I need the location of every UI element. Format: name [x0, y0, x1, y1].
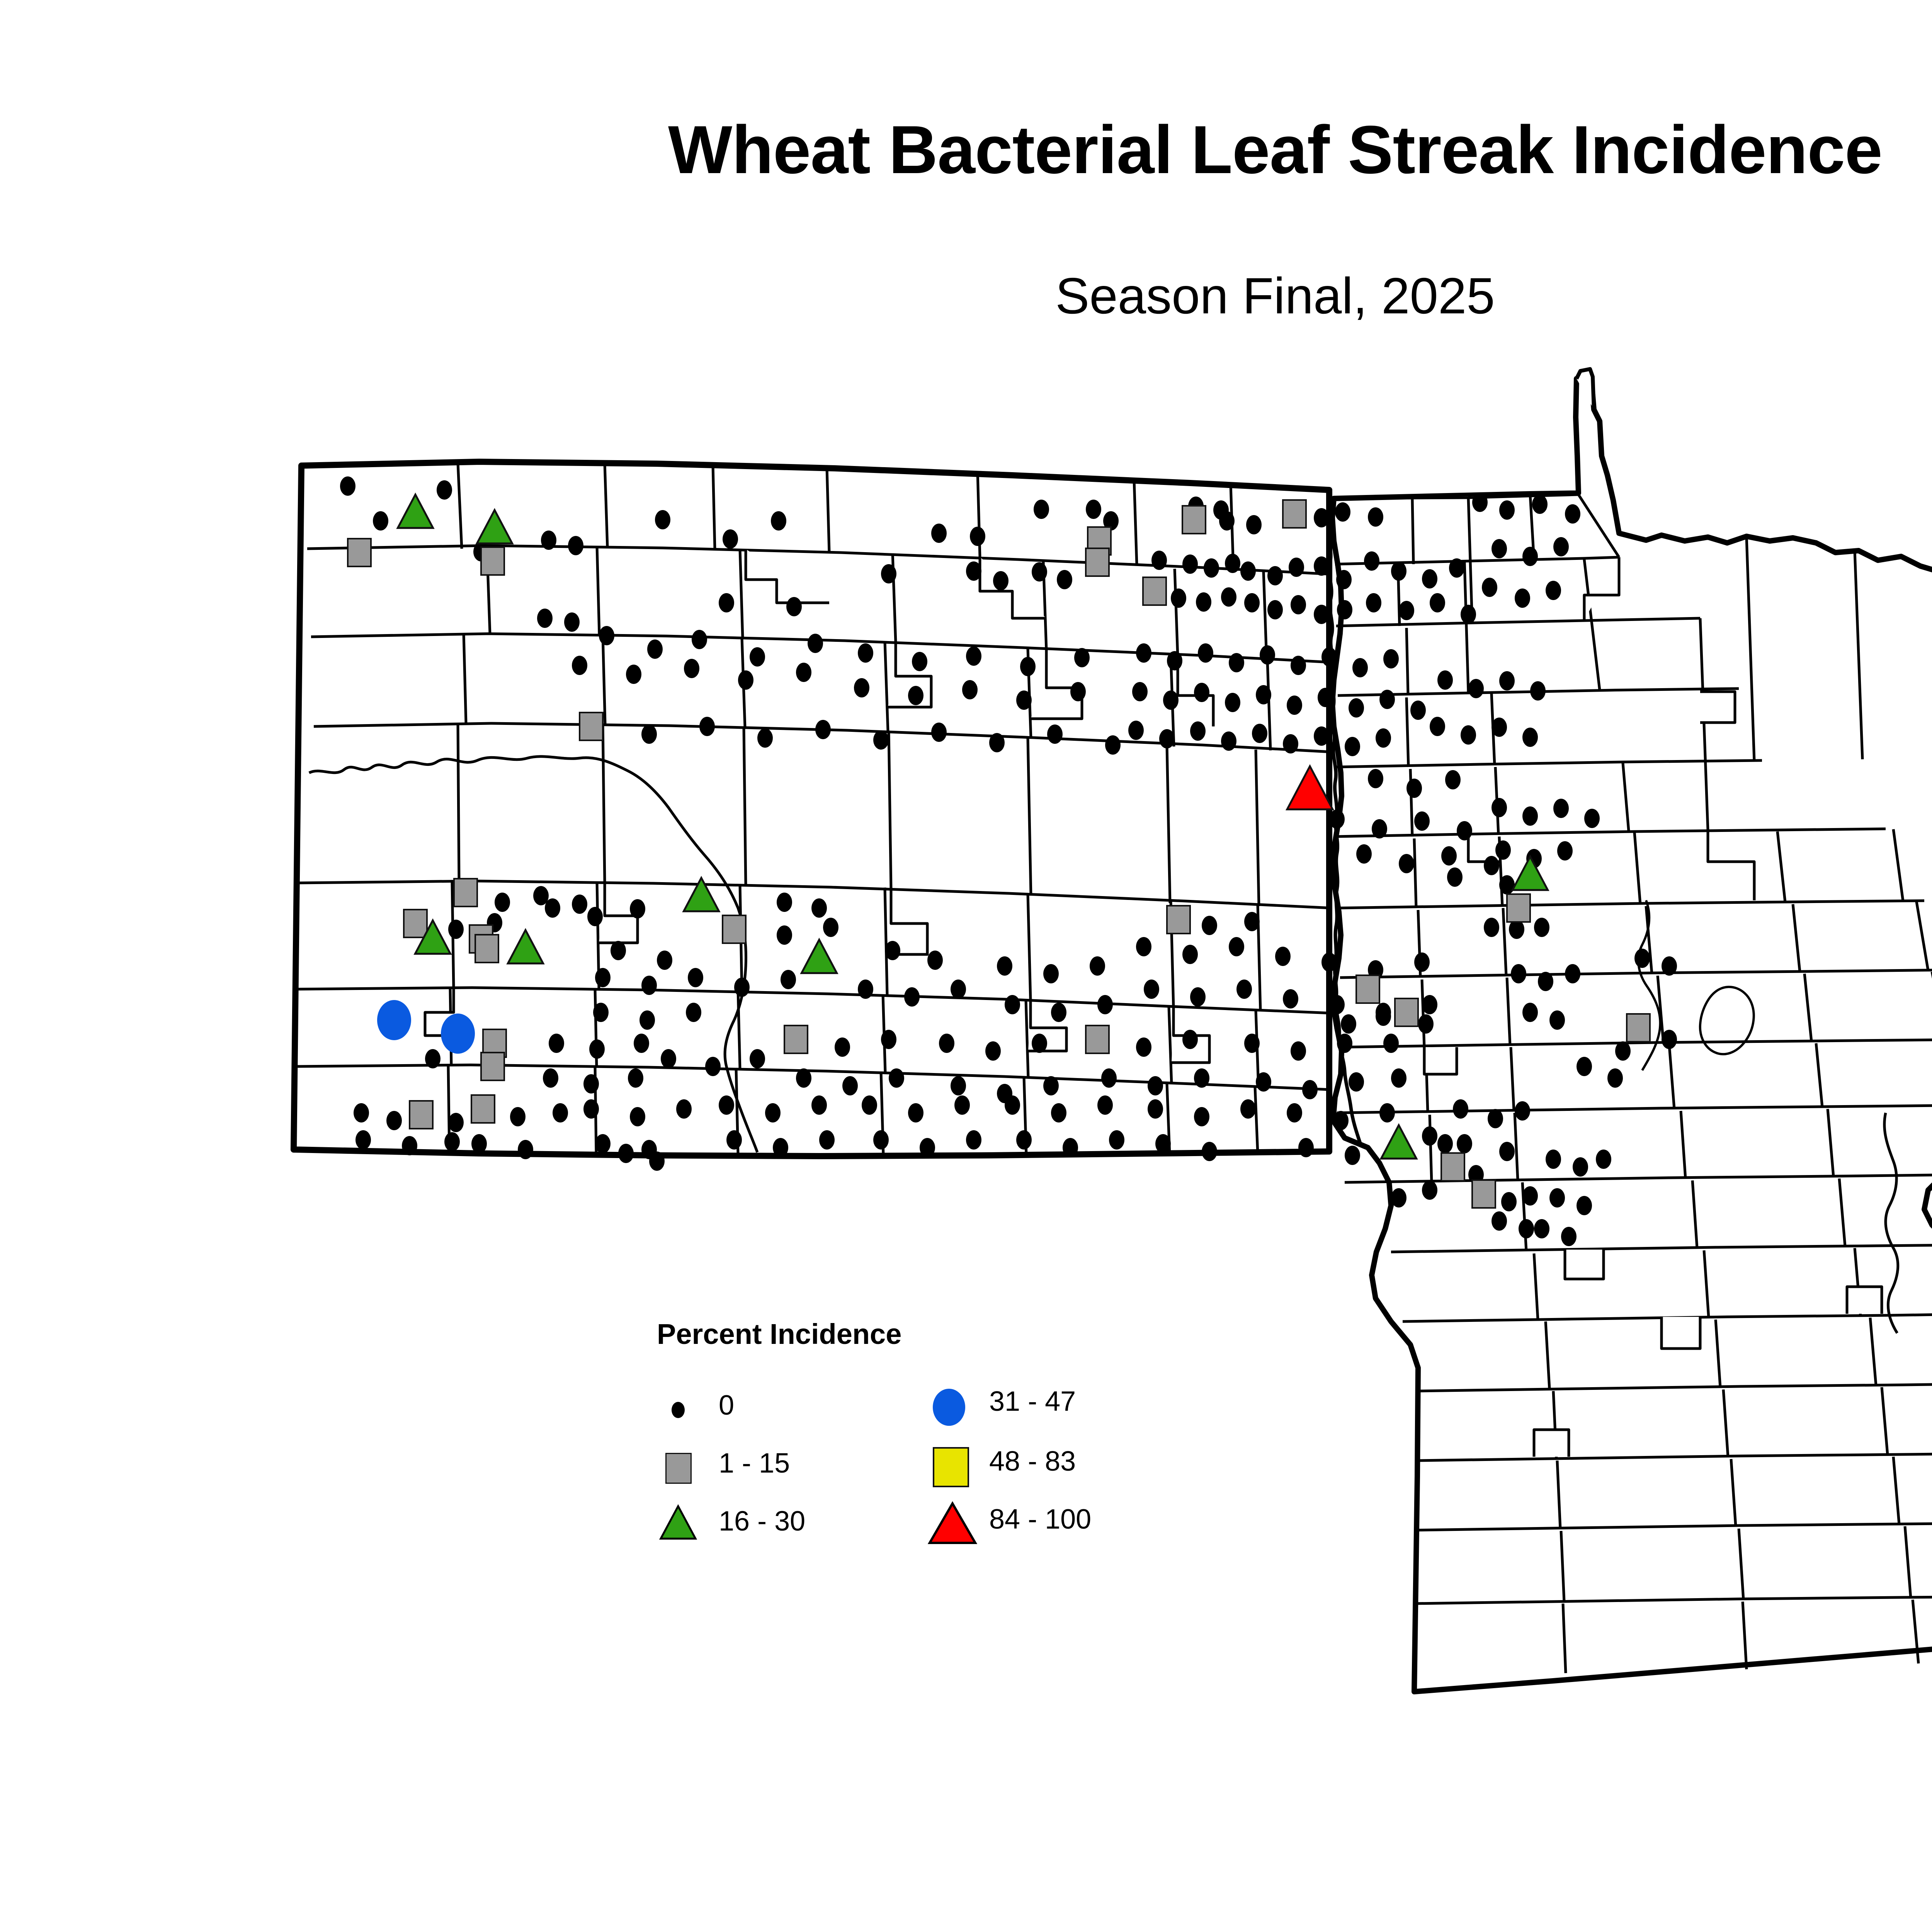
survey-point [951, 980, 966, 999]
survey-point [1468, 679, 1484, 698]
survey-point [858, 643, 873, 663]
survey-point [425, 1049, 440, 1068]
survey-point [1565, 964, 1580, 983]
survey-point [1457, 1134, 1472, 1153]
survey-point [661, 1049, 676, 1068]
survey-point [589, 1039, 605, 1059]
survey-point [1182, 945, 1198, 964]
survey-point [1086, 500, 1101, 519]
survey-point [1395, 998, 1418, 1026]
survey-point [1461, 605, 1476, 624]
legend-label: 1 - 15 [719, 1447, 790, 1479]
county-line [1412, 498, 1413, 564]
survey-point [1289, 558, 1304, 577]
survey-point [786, 597, 802, 616]
survey-point [1337, 1034, 1352, 1053]
survey-point [811, 898, 827, 918]
survey-point [1356, 844, 1372, 864]
survey-point [1522, 1003, 1538, 1022]
survey-point [1522, 1186, 1538, 1206]
survey-point [1366, 593, 1381, 612]
survey-point [1051, 1103, 1066, 1122]
survey-point [1492, 718, 1507, 737]
survey-point [1511, 964, 1526, 983]
survey-point [1144, 980, 1159, 999]
survey-point [1097, 995, 1113, 1014]
survey-point [1414, 811, 1430, 831]
survey-point [1136, 937, 1151, 956]
survey-point [1256, 685, 1271, 704]
survey-point [1472, 1180, 1495, 1208]
survey-point [1182, 1030, 1198, 1049]
survey-point [1372, 819, 1387, 838]
survey-point [1236, 980, 1252, 999]
survey-point [593, 1003, 609, 1022]
map-canvas: Wheat Bacterial Leaf Streak Incidence Se… [0, 0, 1932, 1932]
survey-point [1662, 956, 1677, 976]
survey-point [1190, 721, 1206, 741]
survey-point [970, 527, 985, 546]
survey-point [1267, 600, 1283, 619]
survey-point [1005, 1095, 1020, 1115]
survey-point [1507, 894, 1530, 922]
survey-point [1557, 841, 1573, 861]
survey-point [1492, 798, 1507, 817]
survey-point [889, 1068, 904, 1088]
survey-point [595, 1134, 611, 1153]
survey-point [1090, 956, 1105, 976]
legend-symbol-square-icon [657, 1445, 703, 1488]
survey-point [1283, 734, 1298, 753]
survey-point [1005, 995, 1020, 1014]
survey-point [1383, 649, 1399, 668]
survey-point [1356, 975, 1379, 1003]
survey-point [1445, 770, 1461, 789]
survey-point [641, 724, 657, 744]
survey-point [1194, 1107, 1209, 1126]
survey-point [1406, 779, 1422, 798]
survey-point [777, 925, 792, 945]
survey-point [1143, 577, 1166, 605]
survey-point [481, 547, 504, 575]
survey-point [796, 1068, 811, 1088]
survey-point [1399, 601, 1414, 620]
survey-point [572, 656, 587, 675]
survey-point [1318, 688, 1333, 707]
survey-point [773, 1138, 788, 1157]
survey-point [518, 1140, 533, 1159]
county-line [1662, 1317, 1700, 1349]
survey-point [835, 1037, 850, 1057]
legend-symbol-dot-icon [657, 1387, 703, 1430]
survey-point [723, 915, 746, 943]
triangle-glyph [927, 1501, 978, 1546]
survey-point [1422, 1180, 1437, 1200]
survey-point [1499, 500, 1515, 520]
survey-point [626, 665, 641, 684]
survey-point [1321, 952, 1337, 972]
survey-point [1499, 671, 1515, 690]
survey-point [1522, 547, 1538, 566]
survey-point [796, 663, 811, 682]
survey-point [1391, 1188, 1406, 1207]
survey-point [1607, 1068, 1623, 1088]
survey-point [580, 713, 603, 740]
survey-point [1246, 515, 1262, 534]
survey-point [1204, 558, 1219, 578]
survey-point [1577, 1196, 1592, 1215]
survey-point [564, 612, 580, 632]
survey-point [1219, 511, 1235, 531]
survey-point [823, 918, 838, 937]
map-svg [0, 0, 1932, 1932]
survey-point [1252, 724, 1267, 743]
survey-point [647, 639, 663, 659]
survey-point [1194, 1068, 1209, 1088]
county-line [1406, 628, 1408, 695]
survey-point [553, 1103, 568, 1122]
survey-point [630, 899, 645, 918]
county-line [1406, 697, 1408, 767]
survey-point [738, 670, 753, 690]
county-line [1847, 1287, 1882, 1314]
survey-point [1298, 1138, 1314, 1157]
survey-point [931, 723, 947, 742]
survey-point [1314, 605, 1329, 624]
survey-point [1086, 548, 1109, 576]
survey-point [410, 1101, 433, 1129]
county-line [1430, 1115, 1432, 1182]
county-line [603, 724, 605, 883]
survey-point [1376, 1007, 1391, 1026]
survey-point [1136, 643, 1151, 663]
survey-point [684, 659, 699, 678]
survey-point [1151, 551, 1167, 570]
survey-point [1256, 1072, 1271, 1092]
survey-point [1032, 562, 1047, 582]
survey-point [639, 1010, 655, 1030]
survey-point [1453, 1099, 1468, 1119]
survey-point [1260, 645, 1275, 665]
survey-point [1418, 1014, 1434, 1034]
survey-point [1399, 854, 1414, 873]
county-line [1700, 692, 1735, 723]
survey-point [954, 1095, 970, 1115]
survey-point [340, 476, 355, 496]
survey-point [939, 1034, 954, 1053]
survey-point [1538, 972, 1553, 991]
survey-point [1422, 995, 1437, 1014]
survey-point [1546, 581, 1561, 600]
survey-point [1182, 554, 1198, 574]
survey-point [1410, 701, 1426, 720]
survey-point [572, 895, 587, 914]
survey-point [634, 1034, 649, 1053]
survey-point [688, 968, 703, 987]
survey-point [1321, 647, 1337, 667]
survey-point [726, 1130, 742, 1150]
county-line [1565, 1250, 1604, 1279]
survey-point [1549, 1010, 1565, 1030]
survey-point [1530, 681, 1546, 701]
survey-point [1430, 593, 1445, 612]
legend-symbol-triangle-icon [657, 1503, 703, 1546]
survey-point [1437, 670, 1453, 690]
survey-point [1484, 856, 1499, 875]
survey-point [657, 951, 672, 970]
survey-point [1437, 1134, 1453, 1153]
survey-point [1488, 1109, 1503, 1128]
survey-point [1148, 1099, 1163, 1119]
survey-point [719, 1095, 734, 1115]
survey-point [583, 1074, 599, 1094]
survey-point [1349, 1072, 1364, 1092]
survey-point [1074, 648, 1090, 667]
survey-point [676, 1099, 692, 1119]
survey-point [1287, 1103, 1302, 1122]
survey-point [931, 524, 947, 543]
survey-point [1492, 1211, 1507, 1231]
survey-point [985, 1041, 1001, 1061]
survey-point [1414, 952, 1430, 972]
survey-point [549, 1034, 564, 1053]
survey-point [510, 1107, 526, 1126]
survey-point [686, 1003, 701, 1022]
survey-point [757, 728, 773, 748]
survey-point [649, 1151, 665, 1171]
survey-point [1171, 588, 1186, 608]
survey-point [1391, 1068, 1406, 1088]
survey-point [989, 733, 1005, 752]
survey-point [1352, 658, 1368, 677]
survey-point [437, 480, 452, 500]
survey-point [402, 1136, 417, 1155]
survey-point [568, 536, 583, 555]
survey-point [1534, 1219, 1549, 1238]
survey-point [1291, 1041, 1306, 1061]
triangle-glyph [657, 1503, 699, 1542]
survey-point [1167, 906, 1190, 934]
legend-label: 84 - 100 [989, 1503, 1091, 1535]
survey-point [1128, 721, 1144, 740]
survey-point [1662, 1030, 1677, 1049]
survey-point [1368, 507, 1383, 527]
survey-point [1499, 875, 1515, 895]
survey-point [962, 680, 978, 699]
survey-point [811, 1095, 827, 1115]
survey-point [815, 720, 831, 739]
survey-point [1349, 698, 1364, 718]
survey-point [471, 1134, 487, 1153]
survey-point [1522, 728, 1538, 747]
survey-point [641, 976, 657, 995]
survey-point [611, 941, 626, 960]
survey-point [1383, 1034, 1399, 1053]
survey-point [1368, 769, 1383, 788]
survey-point [1333, 1111, 1349, 1130]
survey-point [1341, 1014, 1356, 1034]
survey-point [545, 898, 560, 918]
legend-label: 0 [719, 1389, 734, 1421]
survey-point [1163, 690, 1179, 710]
survey-point [777, 893, 792, 912]
survey-point [819, 1130, 835, 1150]
survey-point [842, 1076, 858, 1095]
legend-symbol-triangle-icon [927, 1501, 974, 1544]
survey-point [1565, 504, 1580, 524]
survey-point [1016, 1130, 1032, 1150]
legend-label: 31 - 47 [989, 1386, 1076, 1417]
survey-point [1634, 949, 1650, 968]
survey-point [1229, 653, 1244, 672]
survey-point [997, 956, 1012, 976]
survey-point [1441, 1153, 1464, 1181]
survey-point [1221, 731, 1236, 751]
survey-point [1283, 500, 1306, 528]
survey-point [1063, 1138, 1078, 1157]
survey-point [1553, 799, 1569, 818]
county-line [1534, 1430, 1569, 1457]
survey-point [1240, 561, 1256, 581]
county-boundary-layer [293, 462, 1331, 1156]
survey-point [1441, 846, 1457, 866]
survey-point [1032, 1034, 1047, 1053]
survey-point [1515, 1101, 1530, 1121]
survey-point [1364, 551, 1379, 571]
survey-point [1225, 693, 1240, 712]
survey-point [1148, 1076, 1163, 1095]
survey-point [1337, 600, 1352, 619]
survey-point [873, 1130, 889, 1150]
survey-point [1596, 1150, 1611, 1169]
survey-point [1449, 558, 1464, 578]
survey-point [1482, 578, 1497, 597]
survey-point [1225, 554, 1240, 573]
county-line [1424, 1047, 1457, 1074]
survey-point [1043, 964, 1059, 983]
survey-point [1499, 1142, 1515, 1161]
survey-point [808, 634, 823, 653]
survey-point [771, 511, 786, 531]
survey-point [1422, 1126, 1437, 1146]
survey-point [908, 1103, 923, 1122]
survey-point [1283, 989, 1298, 1009]
survey-point [599, 626, 614, 645]
survey-point [1546, 1150, 1561, 1169]
survey-point [1534, 918, 1549, 937]
survey-point [881, 564, 896, 583]
survey-point [1492, 539, 1507, 558]
survey-point [618, 1144, 634, 1163]
survey-point [1314, 726, 1329, 746]
survey-point [587, 907, 603, 926]
survey-point [1314, 508, 1329, 527]
survey-point [1376, 728, 1391, 748]
survey-point [1430, 717, 1445, 736]
survey-point [404, 910, 427, 937]
survey-point [1573, 1157, 1588, 1177]
survey-point [1472, 493, 1488, 512]
survey-point [475, 935, 498, 963]
survey-point [1202, 1142, 1217, 1161]
survey-point [912, 652, 927, 671]
survey-point [348, 539, 371, 566]
survey-point [495, 893, 510, 912]
survey-point [750, 647, 765, 667]
survey-point [1057, 570, 1072, 589]
survey-point [1275, 947, 1291, 966]
survey-point [1244, 593, 1260, 612]
survey-point [1379, 690, 1395, 709]
survey-point [734, 978, 750, 997]
survey-point [908, 686, 923, 705]
survey-point [1457, 821, 1472, 840]
survey-point [1345, 1146, 1360, 1165]
survey-point [993, 571, 1009, 590]
survey-point [1086, 1026, 1109, 1053]
survey-point [441, 1014, 475, 1054]
survey-point [481, 1053, 504, 1080]
survey-point [354, 1103, 369, 1122]
survey-point [1515, 588, 1530, 608]
survey-point [541, 531, 556, 550]
legend-label: 48 - 83 [989, 1446, 1076, 1477]
legend-symbol-square-icon [927, 1443, 974, 1486]
survey-point [750, 1049, 765, 1068]
survey-point [448, 920, 464, 939]
survey-point [1047, 724, 1063, 744]
survey-point [1070, 682, 1086, 701]
survey-point [1335, 502, 1350, 522]
survey-point [854, 678, 869, 697]
survey-point [1302, 1080, 1318, 1099]
survey-point [920, 1138, 935, 1157]
survey-point [1182, 506, 1206, 534]
survey-point [1221, 587, 1236, 607]
survey-point [1391, 561, 1406, 581]
survey-point [862, 1095, 877, 1115]
survey-point [355, 1130, 371, 1150]
survey-point [1097, 1095, 1113, 1115]
survey-point [1495, 840, 1511, 860]
survey-point [904, 987, 920, 1007]
survey-point [630, 1107, 645, 1126]
survey-point [1267, 566, 1283, 585]
survey-point [1155, 1134, 1171, 1153]
survey-point [444, 1132, 460, 1151]
survey-point [1501, 1192, 1517, 1211]
survey-point [1196, 592, 1211, 612]
survey-point [1329, 995, 1345, 1014]
legend-title: Percent Incidence [657, 1318, 1043, 1350]
survey-point [448, 1113, 464, 1132]
survey-point [1287, 696, 1302, 715]
survey-point [1020, 657, 1036, 676]
survey-point [705, 1057, 721, 1076]
map-container [0, 0, 1932, 1932]
survey-point [1561, 1227, 1577, 1246]
survey-point [1379, 1103, 1395, 1122]
survey-point [1484, 918, 1499, 937]
county-line [458, 723, 459, 882]
survey-point [1345, 737, 1360, 756]
legend: Percent Incidence 0 1 - 15 16 - 30 [657, 1318, 1217, 1573]
survey-point [873, 730, 889, 750]
survey-point [1329, 810, 1345, 829]
survey-point [719, 593, 734, 612]
survey-point [1447, 867, 1463, 887]
survey-point [784, 1026, 808, 1053]
